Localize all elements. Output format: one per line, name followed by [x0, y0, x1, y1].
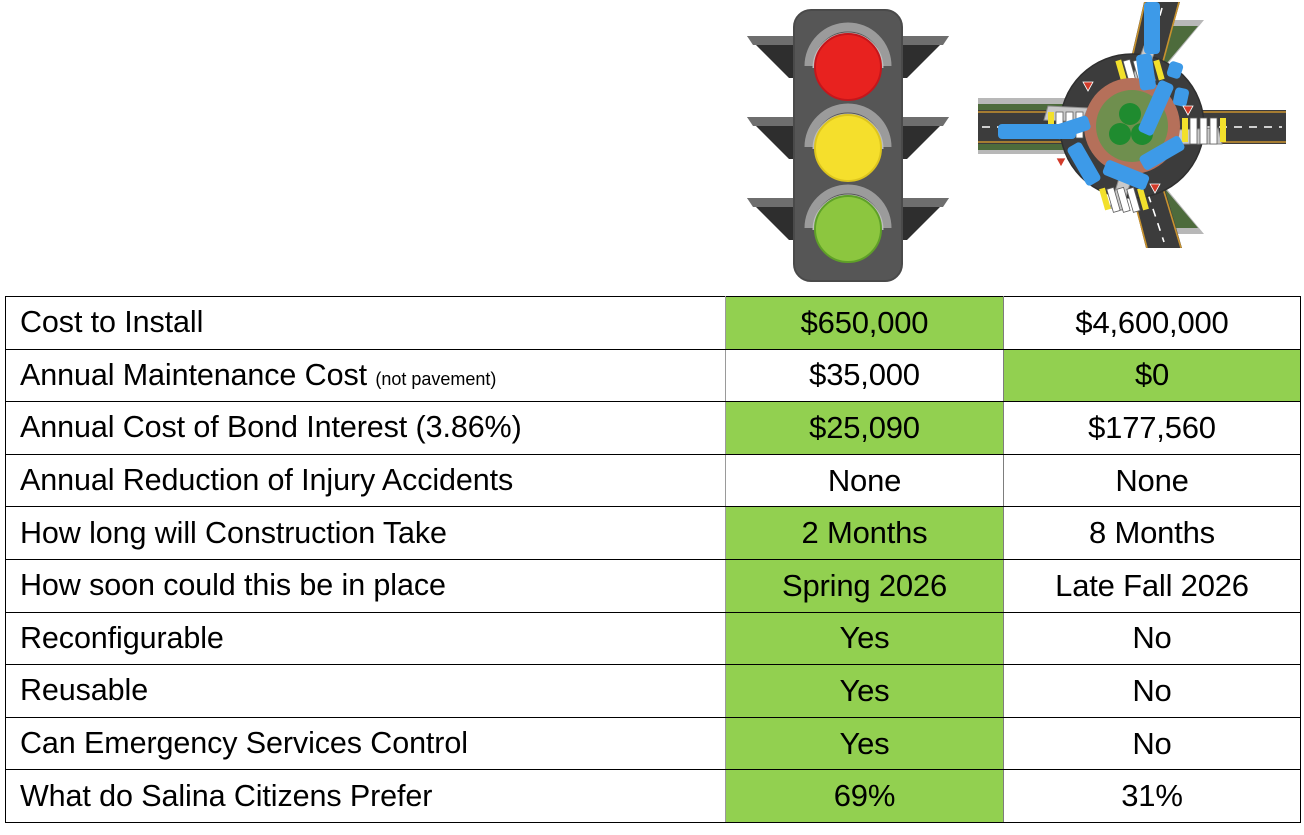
row-label-text: Reusable [20, 673, 148, 707]
table-row: Annual Reduction of Injury Accidents Non… [6, 454, 1301, 507]
signal-value: Yes [726, 717, 1004, 770]
signal-value: 2 Months [726, 507, 1004, 560]
signal-value: $35,000 [726, 349, 1004, 402]
comparison-slide: Cost to Install $650,000 $4,600,000 Annu… [0, 0, 1304, 835]
row-label-text: How soon could this be in place [20, 568, 446, 602]
roundabout-diagram [978, 2, 1286, 248]
row-label: Reconfigurable [6, 612, 726, 665]
table-row: Annual Maintenance Cost (not pavement) $… [6, 349, 1301, 402]
signal-value: None [726, 454, 1004, 507]
signal-value: 69% [726, 770, 1004, 823]
roundabout-value: $177,560 [1004, 402, 1301, 455]
roundabout-value: None [1004, 454, 1301, 507]
roundabout-value: No [1004, 717, 1301, 770]
row-label: Annual Reduction of Injury Accidents [6, 454, 726, 507]
roundabout-value: Late Fall 2026 [1004, 559, 1301, 612]
media-area [0, 0, 1304, 297]
table-row: How long will Construction Take 2 Months… [6, 507, 1301, 560]
comparison-table-body: Cost to Install $650,000 $4,600,000 Annu… [6, 297, 1301, 823]
row-label-text: How long will Construction Take [20, 516, 447, 550]
table-row: Reconfigurable Yes No [6, 612, 1301, 665]
signal-value: $650,000 [726, 297, 1004, 350]
table-row: How soon could this be in place Spring 2… [6, 559, 1301, 612]
roundabout-value: 31% [1004, 770, 1301, 823]
row-label-text: Can Emergency Services Control [20, 726, 468, 760]
table-row: Can Emergency Services Control Yes No [6, 717, 1301, 770]
signal-value: Yes [726, 612, 1004, 665]
table-row: Reusable Yes No [6, 665, 1301, 718]
traffic-signal-illustration [737, 4, 959, 287]
table-row: Cost to Install $650,000 $4,600,000 [6, 297, 1301, 350]
signal-value: Spring 2026 [726, 559, 1004, 612]
comparison-table: Cost to Install $650,000 $4,600,000 Annu… [5, 296, 1301, 823]
roundabout-value: No [1004, 665, 1301, 718]
signal-value: $25,090 [726, 402, 1004, 455]
roundabout-value: 8 Months [1004, 507, 1301, 560]
row-label-text: Annual Cost of Bond Interest (3.86%) [20, 410, 522, 444]
table-row: What do Salina Citizens Prefer 69% 31% [6, 770, 1301, 823]
row-label-text: Cost to Install [20, 305, 203, 339]
row-label-text: Annual Reduction of Injury Accidents [20, 463, 513, 497]
roundabout-value: $4,600,000 [1004, 297, 1301, 350]
row-label: How long will Construction Take [6, 507, 726, 560]
roundabout-value: No [1004, 612, 1301, 665]
row-label: How soon could this be in place [6, 559, 726, 612]
row-label: Annual Cost of Bond Interest (3.86%) [6, 402, 726, 455]
signal-value: Yes [726, 665, 1004, 718]
row-label: Annual Maintenance Cost (not pavement) [6, 349, 726, 402]
row-label: Cost to Install [6, 297, 726, 350]
row-label-text: Reconfigurable [20, 621, 224, 655]
row-label-text: Annual Maintenance Cost [20, 358, 367, 392]
row-label: What do Salina Citizens Prefer [6, 770, 726, 823]
table-row: Annual Cost of Bond Interest (3.86%) $25… [6, 402, 1301, 455]
roundabout-value: $0 [1004, 349, 1301, 402]
row-label: Reusable [6, 665, 726, 718]
row-label: Can Emergency Services Control [6, 717, 726, 770]
row-label-note: (not pavement) [375, 369, 496, 389]
row-label-text: What do Salina Citizens Prefer [20, 779, 432, 813]
